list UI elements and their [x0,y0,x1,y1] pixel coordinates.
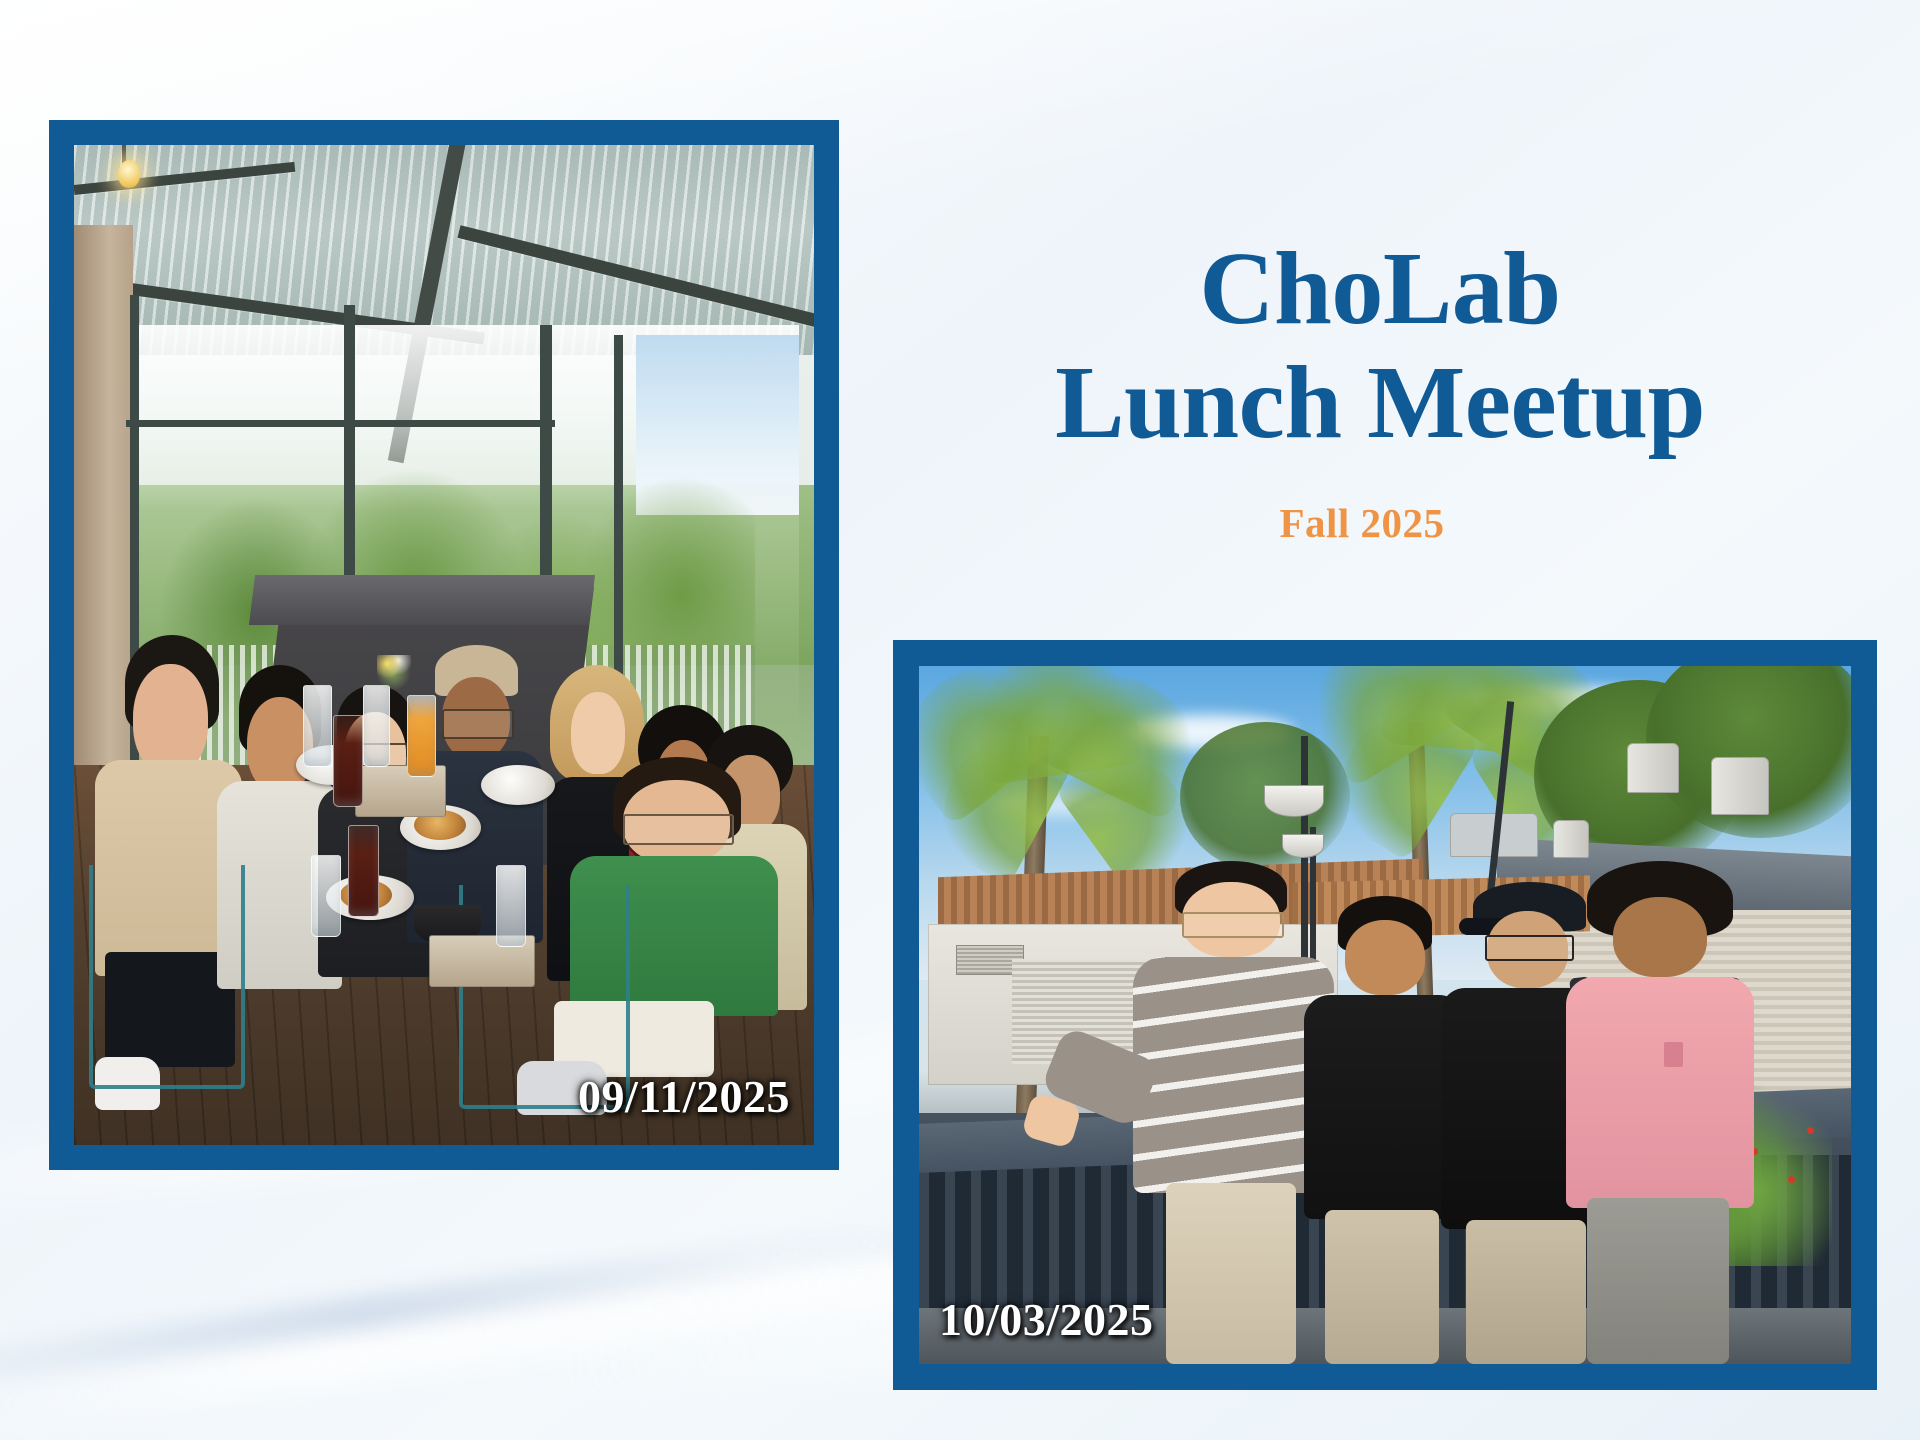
background-light-streak [0,1240,879,1440]
face [133,664,208,774]
title-block: ChoLab Lunch Meetup Fall 2025 [880,232,1880,547]
hanging-light-icon [118,160,140,188]
red-flower [1807,1127,1814,1134]
torso-pink-tshirt [1566,977,1755,1208]
roof-vent-stack [1553,820,1589,858]
lamp-head [1282,834,1324,858]
water-glass [311,855,341,937]
roof-vent-stack [1627,743,1679,793]
photo-frame-right[interactable]: 10/03/2025 [893,640,1877,1390]
lamp-head [1264,785,1324,817]
khaki-pants [1325,1210,1439,1364]
shirt-logo [1664,1042,1683,1067]
red-flower [1788,1176,1795,1183]
water-glass [363,685,390,767]
flower-vase [377,655,411,695]
khaki-pants [1166,1183,1296,1364]
window-mullion [126,420,555,427]
subtitle-term: Fall 2025 [880,499,1880,547]
juice-glass [407,695,436,777]
background-shadow-streak [0,1223,887,1403]
grey-shorts [1587,1198,1728,1364]
water-glass [303,685,332,767]
face [1613,897,1707,977]
plate [481,765,555,805]
photo-date-stamp: 09/11/2025 [578,1070,790,1123]
dining-table-top [249,575,596,625]
metal-chair [89,865,245,1089]
soda-glass [348,825,380,917]
photo-frame-left[interactable]: 09/11/2025 [49,120,839,1170]
slide-canvas: ChoLab Lunch Meetup Fall 2025 [0,0,1920,1440]
page-title: ChoLab Lunch Meetup [880,232,1880,461]
photo-lab-deck-group[interactable]: 10/03/2025 [919,666,1851,1364]
photo-date-stamp: 10/03/2025 [939,1293,1154,1346]
roof-vent-stack [1711,757,1769,815]
photo-lab-lunch-table[interactable]: 09/11/2025 [74,145,814,1145]
eyeglasses-icon [623,814,734,845]
soda-glass [333,715,363,807]
face [571,692,625,774]
person-pink-tee-backpack [1553,861,1767,1364]
eyeglasses-icon [1182,912,1284,939]
eyeglasses-icon [442,709,514,739]
water-glass [496,865,526,947]
face [1345,920,1426,995]
